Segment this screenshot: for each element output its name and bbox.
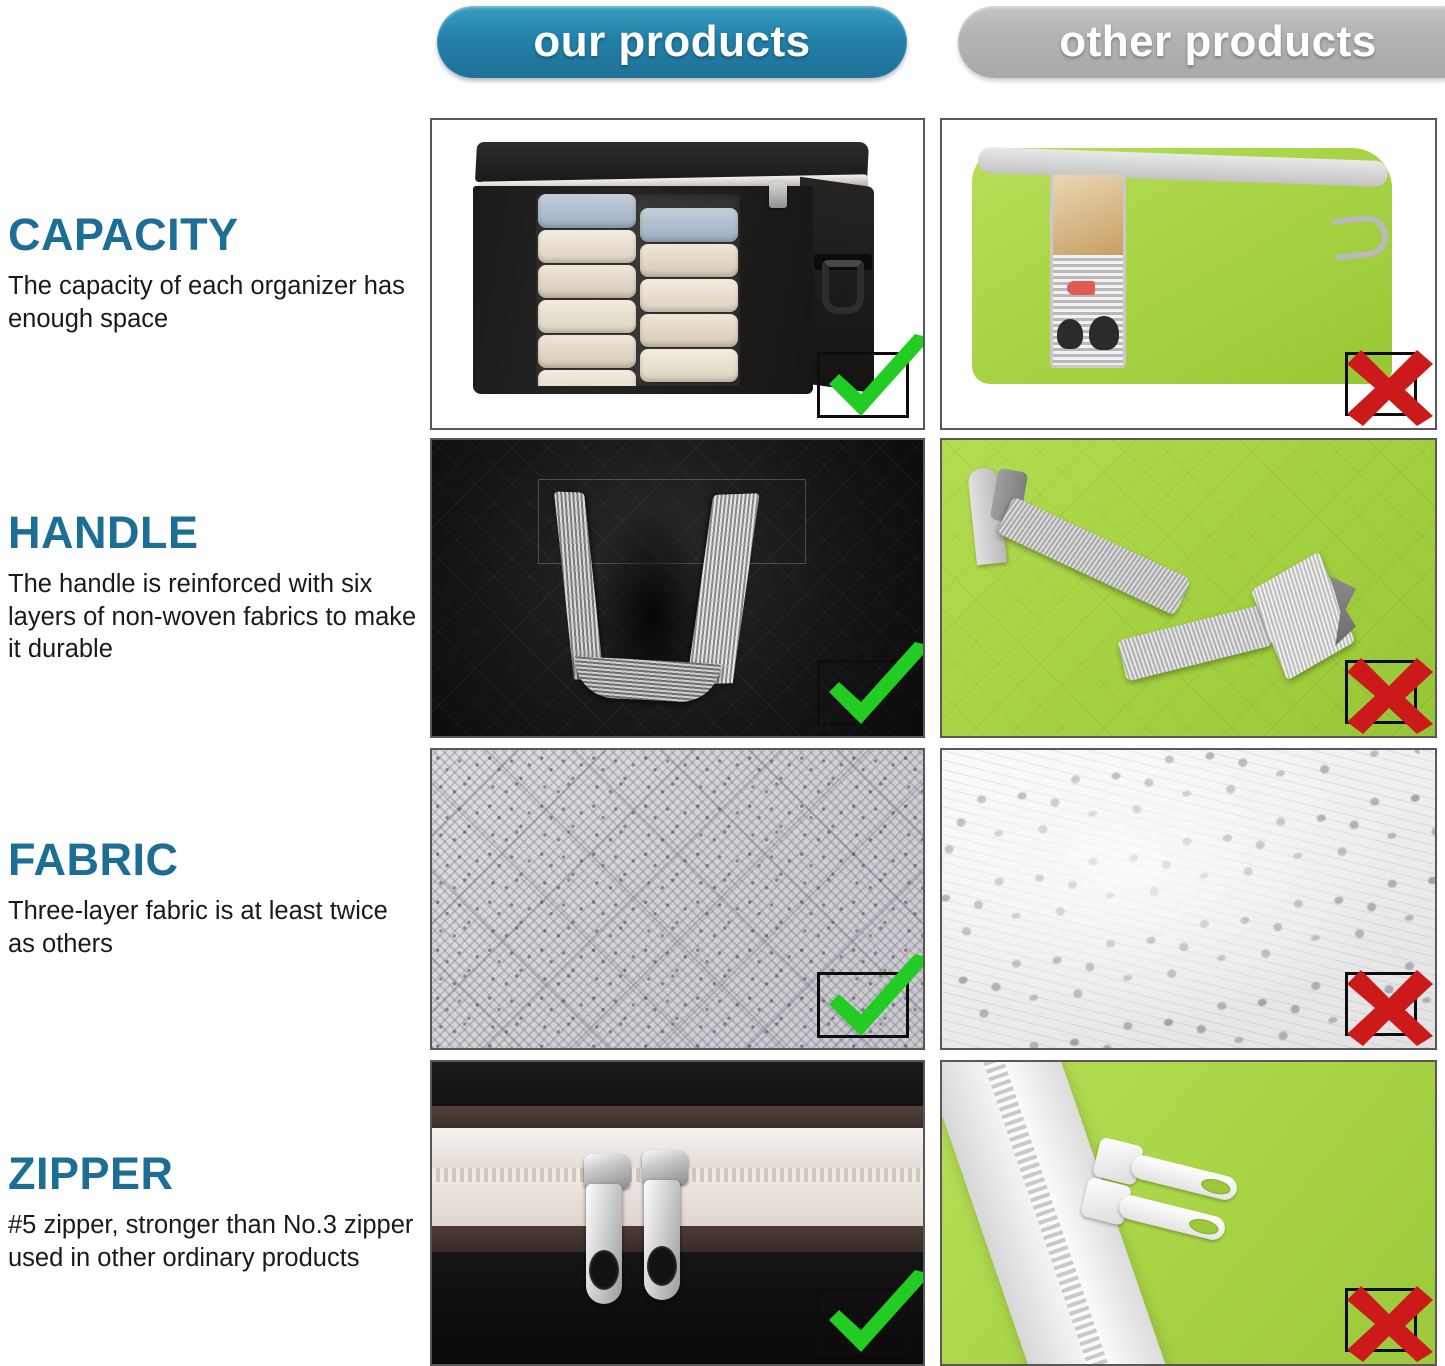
green-check-icon (819, 334, 923, 426)
our-product-image-capacity (430, 118, 925, 430)
comparison-row-capacity: CAPACITY The capacity of each organizer … (0, 118, 1445, 430)
other-product-image-capacity (940, 118, 1437, 430)
folded-clothes-stack-right (638, 208, 740, 386)
our-products-badge: our products (437, 6, 907, 78)
folded-item (640, 244, 738, 277)
feature-description: Three-layer fabric is at least twice as … (8, 895, 417, 960)
strap-loop-bottom (573, 656, 721, 704)
folded-item (538, 265, 636, 298)
comparison-row-handle: HANDLE The handle is reinforced with six… (0, 438, 1445, 738)
our-products-label: our products (533, 17, 810, 67)
three-layer-fabric-photo (432, 750, 923, 1048)
red-cross-icon (1337, 344, 1435, 426)
clear-window (1050, 172, 1126, 368)
green-check-icon (819, 642, 923, 734)
zipper-tab-hole (589, 1250, 619, 1290)
brown-piping-top (432, 1106, 923, 1128)
strap-segment-upper (997, 496, 1192, 615)
feature-title: ZIPPER (8, 1151, 417, 1197)
zipper-slider (584, 1154, 630, 1188)
feature-title: HANDLE (8, 510, 417, 556)
fabric-band-top (432, 1062, 923, 1106)
feature-description: #5 zipper, stronger than No.3 zipper use… (8, 1209, 417, 1274)
our-product-image-zipper (430, 1060, 925, 1366)
zipper-pull-right (638, 1150, 692, 1320)
red-cross-icon (1337, 652, 1435, 734)
green-check-icon (819, 954, 923, 1046)
storage-organizer-black-photo (432, 120, 923, 428)
feature-title: CAPACITY (8, 212, 417, 258)
green-check-icon (819, 1270, 923, 1362)
feature-text-zipper: ZIPPER #5 zipper, stronger than No.3 zip… (8, 1060, 423, 1366)
other-product-image-fabric (940, 748, 1437, 1050)
feature-text-fabric: FABRIC Three-layer fabric is at least tw… (8, 748, 423, 1050)
folded-item (538, 335, 636, 368)
torn-handle-photo (942, 440, 1435, 736)
folded-item (538, 194, 636, 228)
feature-title: FABRIC (8, 837, 417, 883)
feature-text-handle: HANDLE The handle is reinforced with six… (8, 438, 423, 738)
handle-strap (552, 492, 792, 724)
storage-bag-green-photo (942, 120, 1435, 428)
feature-text-capacity: CAPACITY The capacity of each organizer … (8, 118, 423, 430)
other-product-image-zipper (940, 1060, 1437, 1366)
plastic-zipper-photo (942, 1062, 1435, 1364)
zipper-tab-hole (647, 1246, 677, 1286)
zipper-pull-icon (769, 182, 787, 208)
metal-zipper-photo (432, 1062, 923, 1364)
folded-item (538, 300, 636, 333)
our-product-image-handle (430, 438, 925, 738)
zipper-slider (642, 1150, 688, 1184)
reinforced-handle-photo (432, 440, 923, 736)
folded-item (640, 279, 738, 312)
comparison-row-zipper: ZIPPER #5 zipper, stronger than No.3 zip… (0, 1060, 1445, 1366)
product-comparison-infographic: our products other products CAPACITY The… (0, 0, 1445, 1366)
folded-item (640, 208, 738, 242)
comparison-header: our products other products (0, 0, 1445, 86)
our-product-image-fabric (430, 748, 925, 1050)
feature-description: The handle is reinforced with six layers… (8, 568, 417, 666)
other-product-image-handle (940, 438, 1437, 738)
feature-description: The capacity of each organizer has enoug… (8, 270, 417, 335)
folded-item (640, 349, 738, 382)
folded-item (640, 314, 738, 347)
dark-item (1089, 316, 1119, 350)
folded-item (538, 230, 636, 263)
other-products-label: other products (1059, 17, 1376, 67)
red-cross-icon (1337, 964, 1435, 1046)
red-item (1067, 281, 1095, 295)
folded-clothes-stack-left (536, 194, 638, 386)
thin-fabric-photo (942, 750, 1435, 1048)
other-products-badge: other products (958, 6, 1445, 78)
comparison-row-fabric: FABRIC Three-layer fabric is at least tw… (0, 748, 1445, 1050)
strap-segment-lower (1117, 604, 1273, 681)
red-cross-icon (1337, 1280, 1435, 1362)
clear-window (536, 194, 740, 386)
folded-item (538, 370, 636, 386)
black-organizer (470, 142, 876, 404)
zipper-pull-left (580, 1154, 634, 1324)
dark-item (1057, 319, 1083, 349)
clothes-in-window (1053, 175, 1123, 255)
side-handle (822, 260, 864, 314)
